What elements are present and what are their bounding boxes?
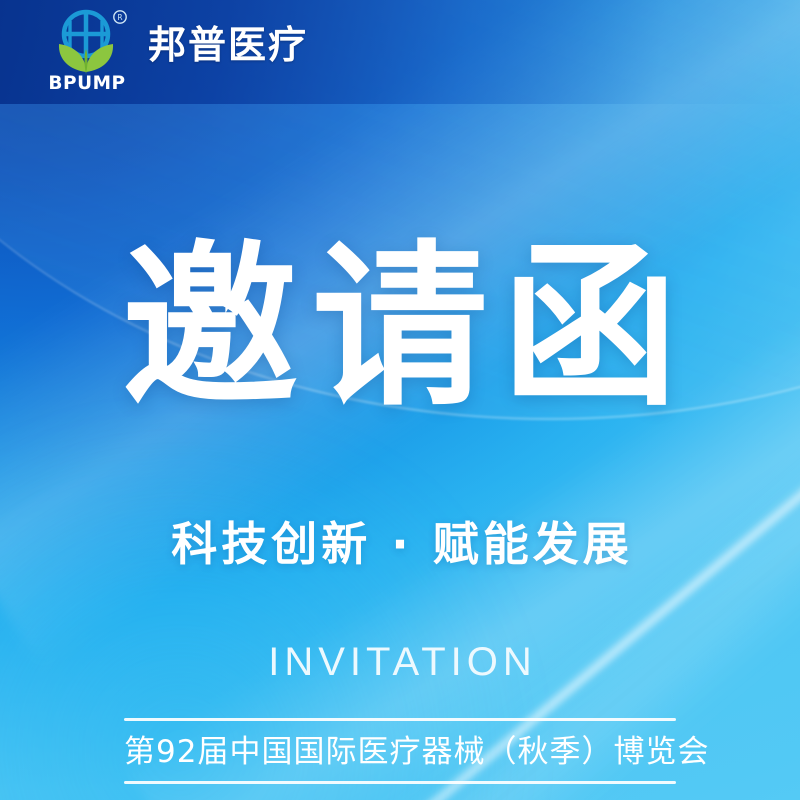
brand-lockup: R BPUMP 邦普医疗 (46, 8, 308, 92)
bpump-globe-leaf-logo-icon: R BPUMP (46, 8, 134, 92)
invitation-poster: R BPUMP 邦普医疗 邀请函 科技创新 · 赋能发展 INVITATION … (0, 0, 800, 800)
page-title: 邀请函 (0, 238, 800, 418)
brand-chinese-name: 邦普医疗 (148, 26, 308, 74)
page-subtitle: 科技创新 · 赋能发展 (0, 508, 800, 574)
invitation-english-label: INVITATION (0, 640, 800, 685)
bpump-wordmark: BPUMP (48, 73, 125, 92)
event-block: 第92届中国国际医疗器械（秋季）博览会 (124, 718, 676, 784)
event-name: 第92届中国国际医疗器械（秋季）博览会 (124, 721, 676, 781)
divider-bottom (124, 781, 676, 784)
svg-text:R: R (117, 13, 122, 22)
